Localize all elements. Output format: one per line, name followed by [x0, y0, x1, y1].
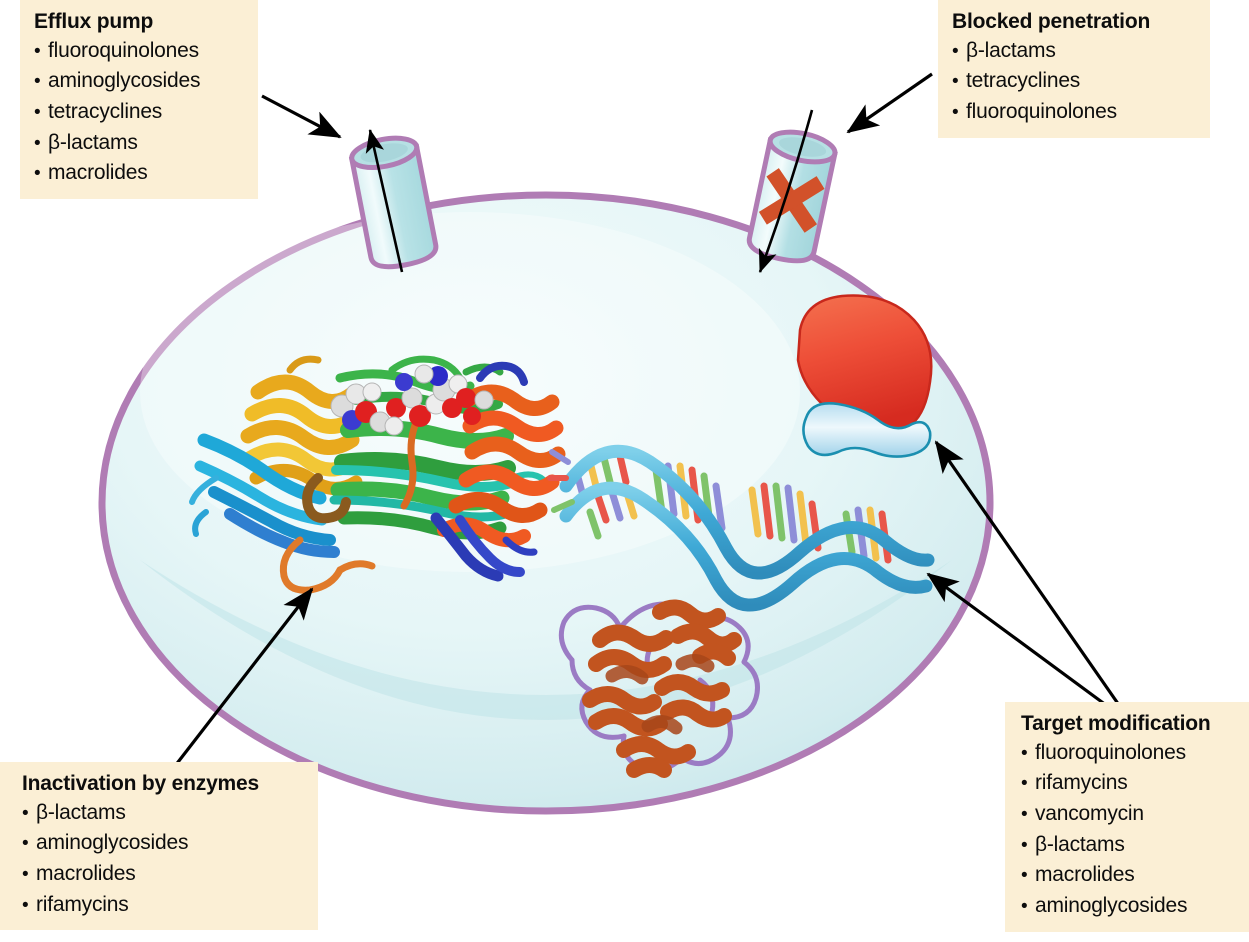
list-item: vancomycin — [1021, 799, 1235, 830]
inactivation-title: Inactivation by enzymes — [22, 770, 304, 798]
blocked-penetration-title: Blocked penetration — [952, 8, 1196, 36]
target-modification-title: Target modification — [1021, 710, 1235, 738]
list-item: rifamycins — [1021, 768, 1235, 799]
list-item: β-lactams — [22, 798, 304, 829]
blocked-penetration-channel[interactable] — [747, 127, 838, 265]
list-item: macrolides — [34, 158, 244, 189]
blocked-penetration-list: β-lactams tetracyclines fluoroquinolones — [952, 36, 1196, 128]
efflux-pump-list: fluoroquinolones aminoglycosides tetracy… — [34, 36, 244, 189]
target-modification-list: fluoroquinolones rifamycins vancomycin β… — [1021, 738, 1235, 922]
blocked-label-arrow — [848, 74, 932, 132]
list-item: aminoglycosides — [34, 66, 244, 97]
diagram-stage: Efflux pump fluoroquinolones aminoglycos… — [0, 0, 1249, 942]
list-item: fluoroquinolones — [1021, 738, 1235, 769]
list-item: aminoglycosides — [1021, 891, 1235, 922]
list-item: β-lactams — [34, 128, 244, 159]
list-item: fluoroquinolones — [952, 97, 1196, 128]
target-dna-arrow — [928, 574, 1110, 708]
list-item: rifamycins — [22, 890, 304, 921]
inactivation-list: β-lactams aminoglycosides macrolides rif… — [22, 798, 304, 921]
list-item: tetracyclines — [34, 97, 244, 128]
efflux-pump-title: Efflux pump — [34, 8, 244, 36]
list-item: macrolides — [22, 859, 304, 890]
list-item: β-lactams — [1021, 830, 1235, 861]
label-box-efflux-pump[interactable]: Efflux pump fluoroquinolones aminoglycos… — [20, 0, 258, 199]
label-box-inactivation-by-enzymes[interactable]: Inactivation by enzymes β-lactams aminog… — [0, 762, 318, 930]
list-item: tetracyclines — [952, 66, 1196, 97]
label-box-blocked-penetration[interactable]: Blocked penetration β-lactams tetracycli… — [938, 0, 1210, 138]
list-item: macrolides — [1021, 860, 1235, 891]
list-item: aminoglycosides — [22, 828, 304, 859]
list-item: β-lactams — [952, 36, 1196, 67]
list-item: fluoroquinolones — [34, 36, 244, 67]
efflux-label-arrow — [262, 96, 340, 137]
label-box-target-modification[interactable]: Target modification fluoroquinolones rif… — [1005, 702, 1249, 932]
ribosome — [798, 296, 931, 457]
